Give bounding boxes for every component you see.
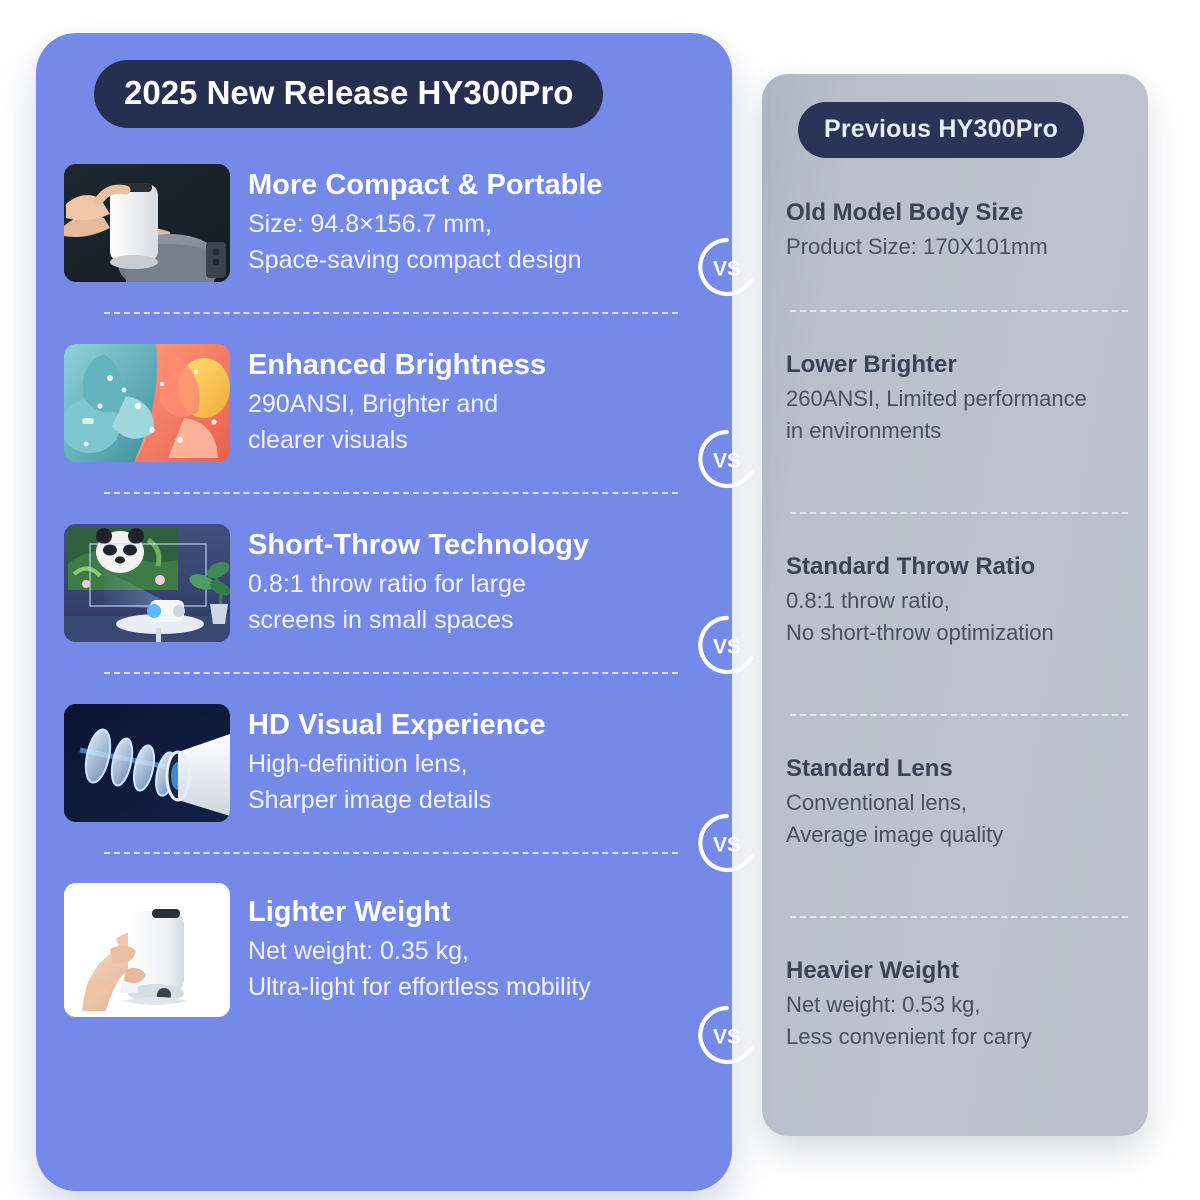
vs-label: VS [713,450,741,473]
feature-text: HD Visual Experience High-definition len… [248,708,712,818]
feature-row: Lighter Weight Net weight: 0.35 kg, Ultr… [64,878,712,1022]
feature-row: Short-Throw Technology 0.8:1 throw ratio… [64,518,712,648]
divider [104,492,678,494]
feature-line2: Sharper image details [248,782,712,818]
feature-title: Short-Throw Technology [248,528,712,563]
old-row: Lower Brighter 260ANSI, Limited performa… [786,350,1132,512]
vs-label: VS [713,834,741,857]
old-row: Standard Throw Ratio 0.8:1 throw ratio, … [786,552,1132,714]
feature-title: HD Visual Experience [248,708,712,743]
feature-row: Enhanced Brightness 290ANSI, Brighter an… [64,338,712,468]
vs-badge: VS [696,1004,758,1066]
new-model-rows: More Compact & Portable Size: 94.8×156.7… [64,146,712,1022]
feature-title: Enhanced Brightness [248,348,712,383]
old-row-title: Heavier Weight [786,956,1132,985]
divider [104,852,678,854]
comparison-infographic: Previous HY300Pro Old Model Body Size Pr… [0,0,1200,1200]
feature-line2: Space-saving compact design [248,242,712,278]
glossy-flower-petals-photo [64,344,230,462]
old-row-line1: 0.8:1 throw ratio, [786,585,1132,616]
old-row-line2: No short-throw optimization [786,617,1132,648]
old-row-title: Standard Throw Ratio [786,552,1132,581]
vs-label: VS [713,258,741,281]
feature-line1: High-definition lens, [248,746,712,782]
old-row: Heavier Weight Net weight: 0.53 kg, Less… [786,956,1132,1118]
divider [790,916,1128,918]
vs-badge: VS [696,236,758,298]
feature-row: HD Visual Experience High-definition len… [64,698,712,828]
feature-line2: screens in small spaces [248,602,712,638]
old-row-line2: Average image quality [786,819,1132,850]
divider [104,672,678,674]
old-row-line1: 260ANSI, Limited performance [786,383,1132,414]
divider [790,512,1128,514]
vs-label: VS [713,636,741,659]
old-row: Standard Lens Conventional lens, Average… [786,754,1132,916]
exploded-lens-elements-photo [64,704,230,822]
divider [104,312,678,314]
new-model-panel: 2025 New Release HY300Pro [36,33,732,1191]
divider [790,310,1128,312]
old-row: Old Model Body Size Product Size: 170X10… [786,198,1132,310]
feature-text: Lighter Weight Net weight: 0.35 kg, Ultr… [248,895,712,1005]
old-row-line1: Net weight: 0.53 kg, [786,989,1132,1020]
old-row-title: Lower Brighter [786,350,1132,379]
old-row-title: Old Model Body Size [786,198,1132,227]
old-row-line1: Product Size: 170X101mm [786,231,1132,262]
feature-line1: Net weight: 0.35 kg, [248,933,712,969]
feature-line1: Size: 94.8×156.7 mm, [248,206,712,242]
vs-badge: VS [696,428,758,490]
feature-line2: clearer visuals [248,422,712,458]
projector-into-backpack-photo [64,164,230,282]
feature-row: More Compact & Portable Size: 94.8×156.7… [64,158,712,288]
hand-holding-projector-photo [64,883,230,1017]
feature-line1: 290ANSI, Brighter and [248,386,712,422]
feature-text: Short-Throw Technology 0.8:1 throw ratio… [248,528,712,638]
feature-text: Enhanced Brightness 290ANSI, Brighter an… [248,348,712,458]
old-row-line1: Conventional lens, [786,787,1132,818]
feature-line1: 0.8:1 throw ratio for large [248,566,712,602]
vs-badge: VS [696,614,758,676]
vs-label: VS [713,1026,741,1049]
vs-badge: VS [696,812,758,874]
feature-text: More Compact & Portable Size: 94.8×156.7… [248,168,712,278]
previous-model-rows: Old Model Body Size Product Size: 170X10… [786,180,1132,1118]
old-row-title: Standard Lens [786,754,1132,783]
previous-model-panel: Previous HY300Pro Old Model Body Size Pr… [762,74,1148,1136]
previous-model-badge: Previous HY300Pro [798,102,1084,158]
feature-title: More Compact & Portable [248,168,712,203]
feature-line2: Ultra-light for effortless mobility [248,969,712,1005]
feature-title: Lighter Weight [248,895,712,930]
divider [790,714,1128,716]
new-model-badge: 2025 New Release HY300Pro [94,60,603,128]
old-row-line2: in environments [786,415,1132,446]
projector-panda-wall-projection-photo [64,524,230,642]
old-row-line2: Less convenient for carry [786,1021,1132,1052]
